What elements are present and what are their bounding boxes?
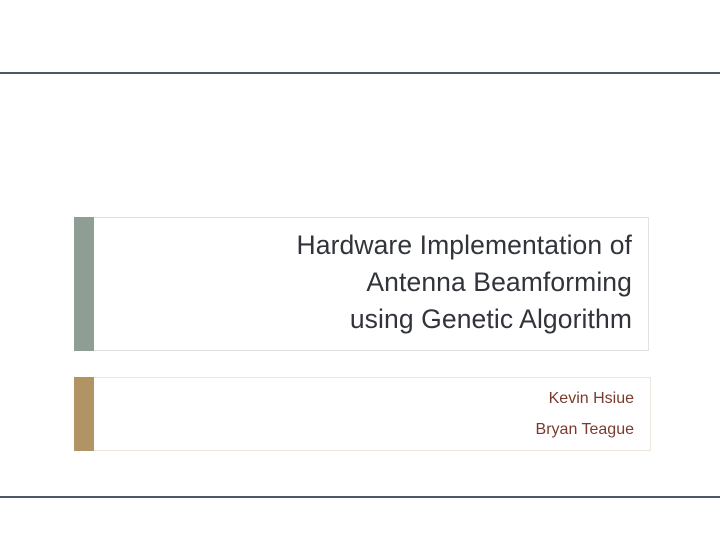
bottom-divider-rule <box>0 496 720 498</box>
subtitle-placeholder[interactable]: Kevin Hsiue Bryan Teague <box>74 377 651 451</box>
title-accent-bar <box>74 217 94 351</box>
title-placeholder[interactable]: Hardware Implementation of Antenna Beamf… <box>74 217 649 351</box>
author-name-2: Bryan Teague <box>536 414 634 445</box>
title-line-2: Antenna Beamforming <box>366 264 632 301</box>
author-text-container[interactable]: Kevin Hsiue Bryan Teague <box>94 377 651 451</box>
top-divider-rule <box>0 72 720 74</box>
author-name-1: Kevin Hsiue <box>549 383 634 414</box>
title-text-container[interactable]: Hardware Implementation of Antenna Beamf… <box>94 217 649 351</box>
subtitle-accent-bar <box>74 377 94 451</box>
presentation-title-slide: Hardware Implementation of Antenna Beamf… <box>0 0 720 540</box>
title-line-1: Hardware Implementation of <box>297 227 632 264</box>
title-line-3: using Genetic Algorithm <box>350 301 632 338</box>
